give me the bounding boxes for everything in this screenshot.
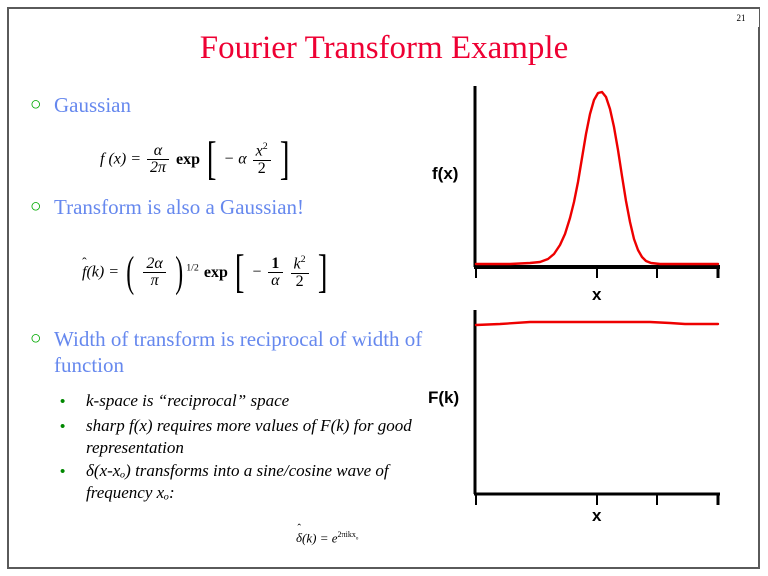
bullet-label: Gaussian — [54, 92, 450, 118]
sub-spacer — [30, 380, 450, 390]
equation-gaussian-transform: ˆf(k) = ( 2α π )1/2 exp [ − 1 α k2 2 ] — [82, 255, 330, 291]
page-title: Fourier Transform Example — [0, 30, 768, 67]
eq1-prefactor-den: 2π — [147, 160, 169, 177]
plot2-y-label: F(k) — [428, 388, 459, 408]
subbullet-item-sharp: • sharp f(x) requires more values of F(k… — [30, 415, 450, 459]
bullet-item-transform: ○ Transform is also a Gaussian! — [30, 194, 450, 220]
hat-accent-icon: ˆ — [82, 255, 87, 271]
eq2-paren-power: 1/2 — [186, 262, 199, 273]
eq2-arg-frac2: k2 2 — [291, 255, 309, 291]
plot1-curve — [476, 92, 718, 264]
square-bullet-icon: • — [60, 460, 86, 484]
eq2-paren-close: ) — [175, 261, 183, 285]
subbullet-item-delta: • δ(x-xₒ) transforms into a sine/cosine … — [30, 460, 450, 504]
eq1-arg-sign: − — [223, 151, 234, 168]
eq2-arg-num2: k2 — [291, 255, 309, 274]
eq2-arg-den2: 2 — [291, 274, 309, 291]
equation-gaussian-function: f (x) = α 2π exp [ − α x2 2 ] — [100, 142, 292, 178]
eq2-exp-label: exp — [204, 264, 228, 281]
page-number: 21 — [723, 9, 759, 27]
circle-bullet-icon: ○ — [30, 92, 54, 118]
equation-delta-transform: ˆδ(k) = e2πikxo — [296, 530, 358, 546]
subbullet-item-kspace: • k-space is “reciprocal” space — [30, 390, 450, 414]
circle-bullet-icon: ○ — [30, 194, 54, 220]
eq1-lhs: f (x) = — [100, 151, 141, 168]
eq2-paren-open: ( — [126, 261, 134, 285]
eq2-arg-sign: − — [251, 264, 262, 281]
eq2-arg-den1: α — [268, 273, 282, 290]
circle-bullet-icon: ○ — [30, 326, 54, 352]
eq1-arg-num: x2 — [253, 142, 271, 161]
eq3-lhs-hat: ˆδ — [296, 530, 302, 546]
eq1-arg-den: 2 — [253, 161, 271, 178]
eq2-paren-frac: 2α π — [143, 256, 165, 291]
bullet-item-width: ○ Width of transform is reciprocal of wi… — [30, 326, 450, 378]
subbullet-label: δ(x-xₒ) transforms into a sine/cosine wa… — [86, 460, 450, 504]
subbullet-label: k-space is “reciprocal” space — [86, 390, 450, 412]
eq2-bracket-open: [ — [235, 260, 245, 286]
eq1-exp-label: exp — [176, 151, 200, 168]
eq2-bracket-close: ] — [318, 260, 328, 286]
eq2-paren-num: 2α — [143, 256, 165, 274]
plot1-y-label: f(x) — [432, 164, 458, 184]
square-bullet-icon: • — [60, 415, 86, 439]
bullet-label: Transform is also a Gaussian! — [54, 194, 450, 220]
plot2-curve — [476, 322, 718, 325]
bullet-label: Width of transform is reciprocal of widt… — [54, 326, 450, 378]
square-bullet-icon: • — [60, 390, 86, 414]
eq2-lhs-rest: (k) = — [86, 264, 119, 281]
slide-canvas: 21 Fourier Transform Example ○ Gaussian … — [0, 0, 768, 576]
bullet-item-gaussian: ○ Gaussian — [30, 92, 450, 118]
eq2-arg-num1: 1 — [268, 256, 282, 274]
plot2-svg — [470, 306, 730, 506]
eq1-prefactor: α 2π — [147, 143, 169, 178]
eq2-paren-den: π — [143, 273, 165, 290]
plot2-x-label: x — [592, 506, 601, 526]
eq1-bracket-close: ] — [280, 147, 290, 173]
plot1-svg — [470, 82, 730, 282]
eq1-arg-frac: x2 2 — [253, 142, 271, 178]
eq1-prefactor-num: α — [147, 143, 169, 161]
eq2-arg-frac1: 1 α — [268, 256, 282, 291]
eq1-bracket-open: [ — [207, 147, 217, 173]
gaussian-function-plot: f(x) x — [470, 82, 730, 287]
plot1-x-label: x — [592, 285, 601, 305]
broad-transform-plot: F(k) x — [470, 306, 730, 511]
eq3-lhs-rest: (k) = — [302, 530, 328, 545]
subbullet-label: sharp f(x) requires more values of F(k) … — [86, 415, 450, 459]
eq3-exponent: 2πikxo — [338, 530, 359, 539]
eq2-lhs-hat: ˆf — [82, 264, 86, 282]
hat-accent-icon: ˆ — [297, 523, 301, 535]
eq1-arg-alpha: α — [238, 151, 246, 168]
